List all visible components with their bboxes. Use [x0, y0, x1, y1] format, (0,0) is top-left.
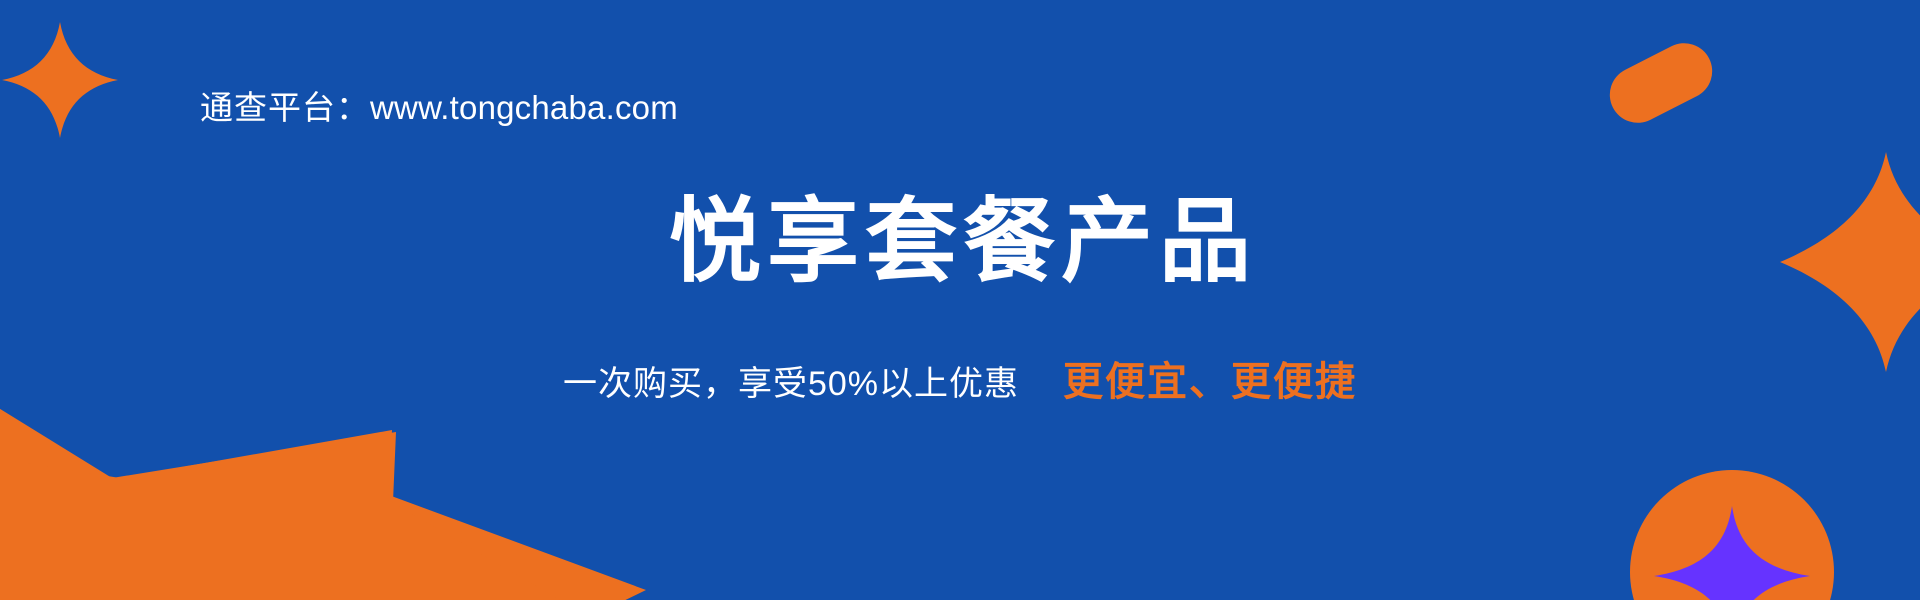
- platform-url-line: 通查平台：www.tongchaba.com: [200, 84, 678, 132]
- subtitle-plain-text: 一次购买，享受50%以上优惠: [563, 360, 1019, 408]
- banner-heading: 悦享套餐产品: [0, 186, 1920, 298]
- platform-label: 通查平台：: [200, 89, 370, 126]
- subtitle-accent-text: 更便宜、更便捷: [1063, 358, 1357, 406]
- banner-content: 通查平台：www.tongchaba.com 悦享套餐产品 一次购买，享受50%…: [0, 0, 1920, 600]
- banner-subtitle-row: 一次购买，享受50%以上优惠 更便宜、更便捷: [0, 358, 1920, 408]
- platform-url: www.tongchaba.com: [370, 89, 678, 126]
- promo-banner: 通查平台：www.tongchaba.com 悦享套餐产品 一次购买，享受50%…: [0, 0, 1920, 600]
